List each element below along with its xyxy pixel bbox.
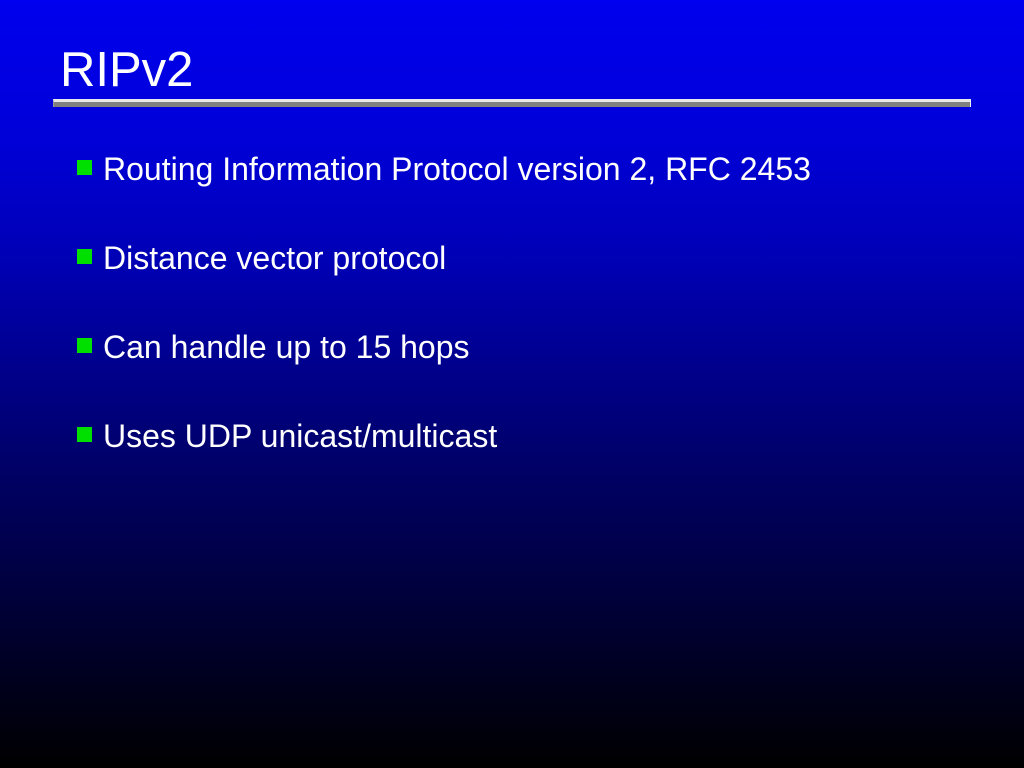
list-item: Routing Information Protocol version 2, …	[77, 152, 1007, 241]
square-bullet-icon	[77, 427, 92, 442]
list-item: Uses UDP unicast/multicast	[77, 419, 1007, 508]
list-item: Distance vector protocol	[77, 241, 1007, 330]
title-divider-rule	[53, 99, 971, 107]
square-bullet-icon	[77, 249, 92, 264]
presentation-slide: RIPv2 Routing Information Protocol versi…	[0, 0, 1024, 768]
bullet-list: Routing Information Protocol version 2, …	[77, 152, 1007, 508]
list-item-label: Can handle up to 15 hops	[103, 330, 470, 364]
list-item-label: Distance vector protocol	[103, 241, 446, 275]
square-bullet-icon	[77, 338, 92, 353]
slide-title-block: RIPv2	[53, 44, 971, 115]
list-item: Can handle up to 15 hops	[77, 330, 1007, 419]
square-bullet-icon	[77, 160, 92, 175]
list-item-label: Uses UDP unicast/multicast	[103, 419, 497, 453]
page-title: RIPv2	[53, 44, 971, 96]
list-item-label: Routing Information Protocol version 2, …	[103, 152, 811, 186]
